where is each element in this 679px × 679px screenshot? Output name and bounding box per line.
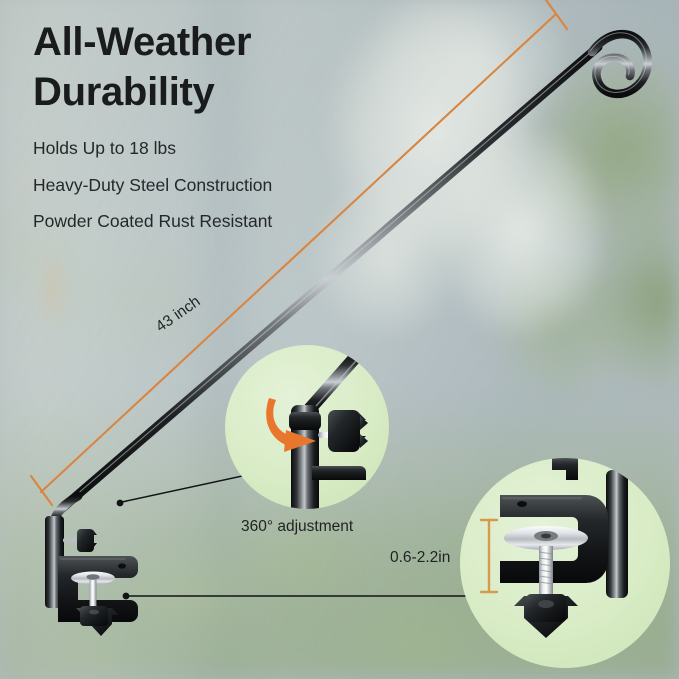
clamp-base-assembly <box>45 496 138 636</box>
inset-rotation-joint <box>225 345 389 520</box>
adjustment-knob <box>63 529 97 552</box>
feature-item: Heavy-Duty Steel Construction <box>33 177 373 195</box>
feature-item: Powder Coated Rust Resistant <box>33 213 373 231</box>
page-title: All-Weather Durability <box>33 18 363 117</box>
rotation-callout-label: 360° adjustment <box>241 518 353 536</box>
shepherd-hook <box>591 33 648 94</box>
feature-list: Holds Up to 18 lbs Heavy-Duty Steel Cons… <box>33 140 373 250</box>
leader-line-clamp <box>123 593 470 600</box>
feature-item: Holds Up to 18 lbs <box>33 140 373 158</box>
product-marketing-image: All-Weather Durability Holds Up to 18 lb… <box>0 0 679 679</box>
clamp-dimension-label: 0.6-2.2in <box>390 549 450 567</box>
inset-clamp-jaw <box>460 458 670 668</box>
